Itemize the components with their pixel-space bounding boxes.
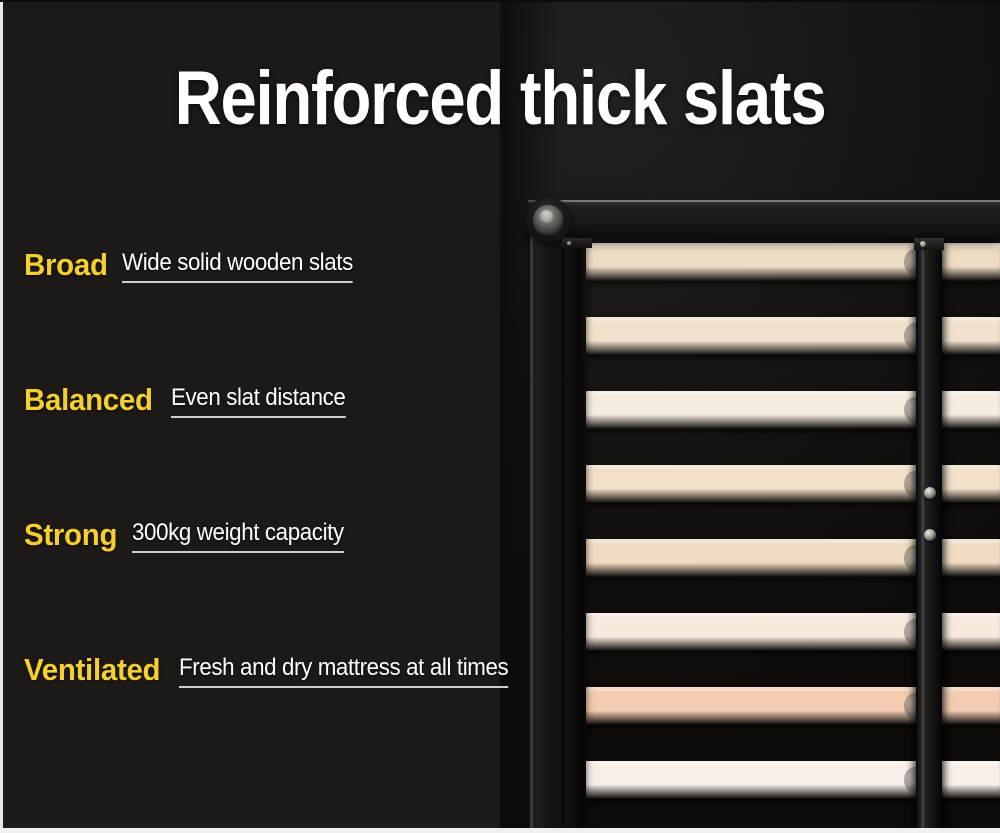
corner-bracket <box>562 238 592 248</box>
left-border-strip <box>0 0 3 833</box>
feature-row-balanced: Balanced Even slat distance <box>24 383 564 518</box>
feature-desc-strong: 300kg weight capacity <box>132 519 344 553</box>
center-bar-cap <box>914 238 944 250</box>
feature-desc-balanced: Even slat distance <box>171 384 345 418</box>
feature-desc-ventilated: Fresh and dry mattress at all times <box>179 654 508 688</box>
feature-key-ventilated: Ventilated <box>24 653 160 687</box>
feature-key-balanced: Balanced <box>24 383 153 417</box>
feature-desc-broad: Wide solid wooden slats <box>122 249 353 283</box>
feature-row-strong: Strong 300kg weight capacity <box>24 518 564 653</box>
feature-row-ventilated: Ventilated Fresh and dry mattress at all… <box>24 653 564 788</box>
screw-icon <box>924 529 936 541</box>
top-rail <box>528 200 1000 238</box>
feature-row-broad: Broad Wide solid wooden slats <box>24 248 564 383</box>
screw-icon <box>920 241 926 247</box>
feature-key-strong: Strong <box>24 518 117 552</box>
top-border-strip <box>0 0 1000 2</box>
corner-bolt-icon <box>525 197 571 243</box>
bolt-head <box>540 210 553 223</box>
product-feature-poster: Reinforced thick slats Broad Wide solid … <box>0 0 1000 833</box>
feature-list: Broad Wide solid wooden slats Balanced E… <box>24 248 564 788</box>
bottom-border-strip <box>0 828 1000 833</box>
page-title: Reinforced thick slats <box>70 58 930 140</box>
feature-key-broad: Broad <box>24 248 108 282</box>
screw-icon <box>924 487 936 499</box>
